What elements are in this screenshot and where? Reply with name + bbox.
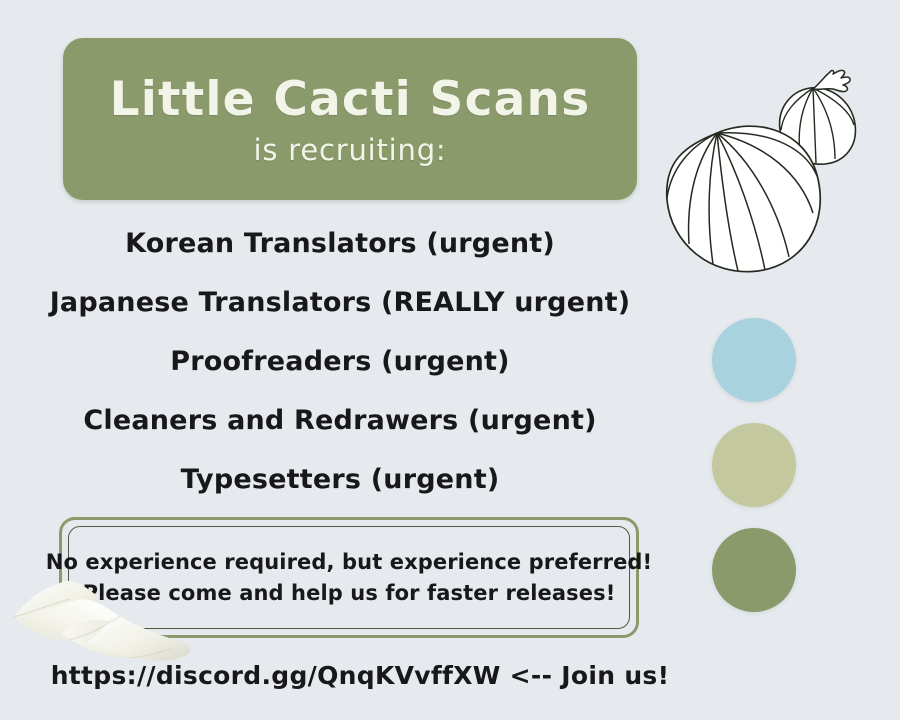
list-item: Korean Translators (urgent) (125, 214, 555, 273)
note-box-inner-border: No experience required, but experience p… (68, 526, 630, 629)
note-box: No experience required, but experience p… (59, 517, 639, 638)
list-item: Cleaners and Redrawers (urgent) (83, 391, 596, 450)
swatch-sage-circle (712, 528, 796, 612)
note-line-2: Please come and help us for faster relea… (83, 581, 616, 605)
list-item: Proofreaders (urgent) (170, 332, 509, 391)
header-banner: Little Cacti Scans is recruiting: (63, 38, 637, 200)
recruitment-poster: Little Cacti Scans is recruiting: (0, 0, 900, 720)
discord-link[interactable]: https://discord.gg/QnqKVvffXW <-- Join u… (0, 661, 900, 690)
swatch-khaki-circle (712, 423, 796, 507)
roles-list: Korean Translators (urgent) Japanese Tra… (30, 214, 650, 509)
swatch-blue-circle (712, 318, 796, 402)
page-title: Little Cacti Scans (110, 75, 591, 124)
list-item: Japanese Translators (REALLY urgent) (50, 273, 631, 332)
page-subtitle: is recruiting: (253, 133, 446, 167)
list-item: Typesetters (urgent) (181, 450, 500, 509)
cactus-icon (655, 45, 895, 295)
note-line-1: No experience required, but experience p… (46, 550, 652, 574)
